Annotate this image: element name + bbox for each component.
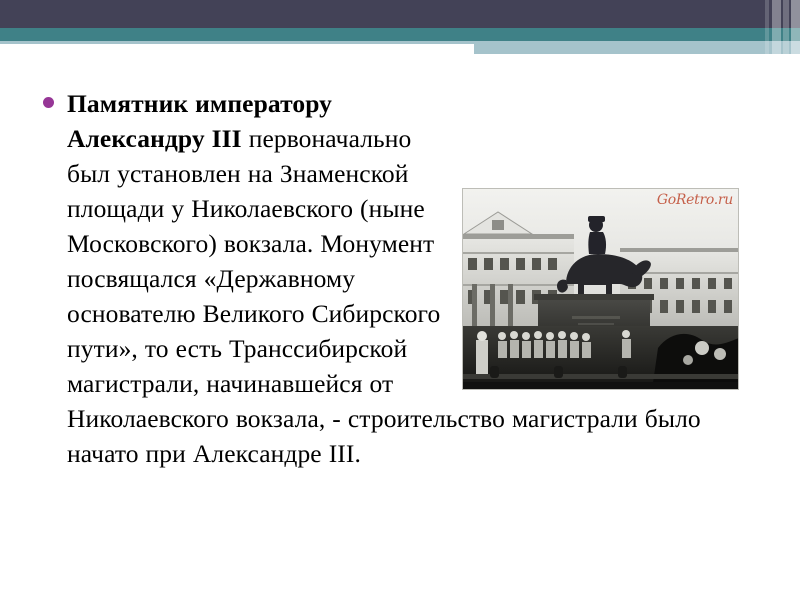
header-band-light-right — [474, 41, 800, 54]
slide-content: GoRetro.ru Памятник императору Александр… — [40, 60, 760, 530]
header-accent-stripe-1 — [765, 0, 769, 56]
bullet-dot-icon — [43, 97, 54, 108]
bullet-paragraph: Памятник императору Александру III перво… — [67, 86, 760, 471]
header-accent-stripe-2 — [772, 0, 781, 56]
header-band-dark — [0, 0, 800, 28]
bullet-list-item: Памятник императору Александру III перво… — [40, 86, 760, 471]
bullet-body-text: первоначально был установлен на Знаменск… — [67, 124, 701, 468]
slide: GoRetro.ru Памятник императору Александр… — [0, 0, 800, 600]
header-accent-stripe-3 — [783, 0, 789, 56]
header-accent-stripe-4 — [791, 0, 800, 56]
header-band-teal — [0, 28, 800, 41]
slide-header-banner — [0, 0, 800, 56]
header-band-light-left — [0, 41, 474, 44]
